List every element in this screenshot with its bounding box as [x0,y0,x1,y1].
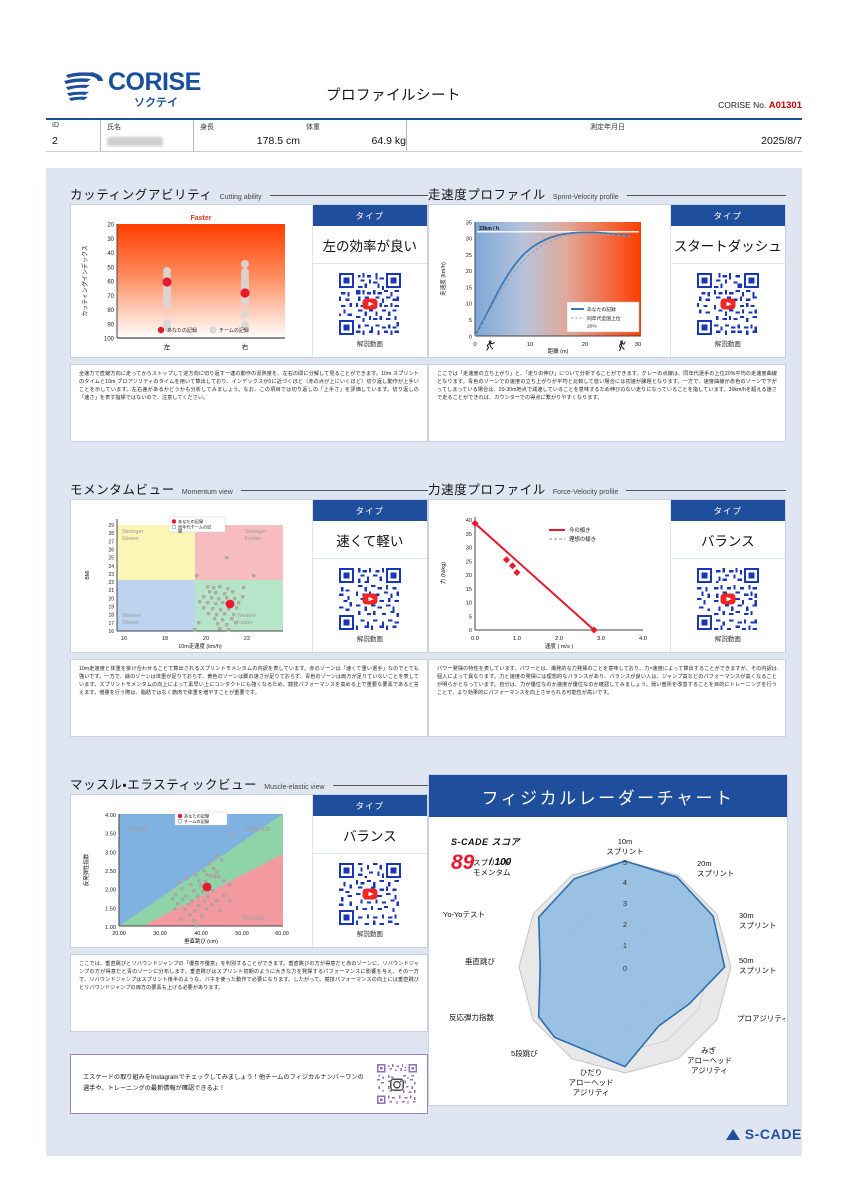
svg-text:2.50: 2.50 [105,869,116,875]
svg-text:反応弾力指数: 反応弾力指数 [449,1012,494,1022]
chart-area: 4.003.503.00 2.502.001.50 1.00 20.0030.0… [71,795,312,947]
type-panel: タイプ スタートダッシュ [670,205,785,357]
section-rule [241,490,428,491]
svg-text:2.0: 2.0 [555,636,563,642]
info-value-row: 2 178.5 cm 64.9 kg 2025/8/7 [46,132,802,151]
type-value: バランス [313,816,427,854]
corise-number-value: A01301 [769,100,802,111]
section-cutting-ability: カッティングアビリティ Cutting ability Faster [70,184,428,442]
svg-text:Faster: Faster [237,620,253,626]
radar-title: フィジカルレーダーチャート [429,775,787,817]
section-rule [333,785,428,786]
svg-text:Muscle: Muscle [243,915,265,922]
svg-text:チームの記録: チームの記録 [219,327,249,334]
footer-brand: S-CADE [745,1126,802,1142]
type-value: スタートダッシュ [671,226,785,264]
section-header: 力速度プロファイル Force-Velocity profile [428,479,786,499]
svg-text:0.0: 0.0 [471,636,479,642]
svg-text:5: 5 [623,858,627,867]
svg-text:2: 2 [623,920,627,929]
qr-block[interactable]: 解説動画 [313,264,427,357]
section-title: 力速度プロファイル [428,479,546,498]
svg-text:29: 29 [108,523,114,529]
value-name [101,132,194,151]
svg-text:1: 1 [623,941,627,950]
page-title: プロファイルシート [326,84,461,105]
chart-card: 4.003.503.00 2.502.001.50 1.00 20.0030.0… [70,794,428,948]
col-header-name: 氏名 [101,120,194,132]
section-header: モメンタムビュー Momentum view [70,479,428,499]
svg-text:16: 16 [121,636,127,642]
svg-text:あなたの記録: あなたの記録 [167,327,197,334]
svg-text:25: 25 [466,559,472,565]
svg-text:40: 40 [466,518,472,524]
chart-area: 353025 201510 50 33km / h 0102030 [429,205,670,357]
instagram-banner[interactable]: エスケードの取り組みをInstagramでチェックしてみましょう！他チームのフィ… [70,1054,428,1114]
svg-text:10: 10 [466,601,472,607]
section-description: パワー発揮の特性を表しています。パワーとは、爆発的な力発揮のことを意味しており、… [428,659,786,737]
svg-text:走速度 (km/h): 走速度 (km/h) [439,262,447,296]
svg-text:21: 21 [108,588,114,594]
section-sprint-velocity: 走速度プロファイル Sprint-Velocity profile [428,184,786,442]
chart-legend: あなたの記録 チームの記録 [175,812,227,825]
svg-text:20%: 20% [587,324,597,330]
svg-text:10: 10 [466,302,472,308]
value-id: 2 [46,132,101,151]
svg-text:26: 26 [108,548,114,554]
section-muscle-elastic: マッスル・エラスティックビュー Muscle-elastic view [70,774,428,1032]
chart-legend: あなたの記録 同年代全国上位 20% [567,302,639,332]
report-canvas: カッティングアビリティ Cutting ability Faster [46,168,802,1156]
section-description: ここでは、垂直跳びとリバウンドジャンプの「優意不優意」を判別することができます。… [70,954,428,1032]
scade-triangle-icon [726,1129,740,1140]
svg-text:あなたの記録: あなたの記録 [587,306,616,313]
section-title: マッスル・エラスティックビュー [70,774,257,793]
type-bar-label: タイプ [313,205,427,226]
svg-text:20: 20 [107,223,114,229]
sheet-header: CORISE ソクテイ プロファイルシート CORISE No. A01301 … [46,70,802,152]
svg-text:20.00: 20.00 [112,931,126,937]
chart-legend: あなたの記録 同年代チームの記 録 [169,517,225,535]
runner-icon-end [620,341,625,351]
qr-block[interactable]: 解説動画 [313,854,427,947]
svg-text:スプリント: スプリント [473,858,511,867]
header-thin-rule [46,151,802,152]
svg-text:3: 3 [623,899,627,908]
col-header-weight: 体重 [300,120,407,132]
svg-text:80: 80 [107,308,114,314]
redacted-name [107,137,163,146]
svg-text:力 (N/kg): 力 (N/kg) [439,562,447,585]
section-description: 10m走速度と体重を掛け合わせることで算出されるスプリントモメンタムの内訳を表し… [70,659,428,737]
qr-caption: 解説動画 [357,338,383,348]
svg-text:Balance: Balance [245,826,270,833]
muscle-elastic-chart: 4.003.503.00 2.502.001.50 1.00 20.0030.0… [73,800,309,945]
svg-text:Stronger: Stronger [122,529,144,535]
svg-text:アローヘッド: アローヘッド [569,1078,614,1087]
svg-text:27: 27 [108,539,114,545]
svg-text:30: 30 [107,237,114,243]
svg-text:アローヘッド: アローヘッド [687,1056,732,1065]
section-description: 全速力で直線方向に走ってからストップして逆方向に切り返す一連の動作の習熟度を、左… [70,364,428,442]
svg-text:60.00: 60.00 [275,931,289,937]
svg-text:100: 100 [104,337,115,343]
athlete-info-table: ID 氏名 身長 体重 測定年月日 2 178.5 cm 64.9 kg 202… [46,120,802,151]
svg-text:20: 20 [466,573,472,579]
svg-text:チームの記録: チームの記録 [184,818,210,825]
svg-text:3.0: 3.0 [597,636,605,642]
svg-text:距離 (m): 距離 (m) [548,347,569,355]
section-header: 走速度プロファイル Sprint-Velocity profile [428,184,786,204]
svg-text:5: 5 [469,614,472,620]
svg-text:4.00: 4.00 [105,813,116,819]
type-bar-label: タイプ [671,205,785,226]
svg-text:20m: 20m [697,859,712,868]
svg-text:18: 18 [162,636,168,642]
sprint-velocity-chart: 353025 201510 50 33km / h 0102030 [431,210,667,355]
svg-text:0: 0 [469,334,472,340]
col-header-date: 測定年月日 [407,120,803,132]
svg-text:24: 24 [108,564,114,570]
svg-text:50m: 50m [739,956,754,965]
svg-text:垂直跳び (cm): 垂直跳び (cm) [184,937,218,945]
svg-text:30m: 30m [739,911,754,920]
svg-text:25: 25 [108,556,114,562]
section-description: ここでは「走速度の立ち上がり」と、「走りの伸び」について分析することができます。… [428,364,786,442]
chart-card: Faster 203040 506070 8090100 [70,204,428,358]
svg-text:アジリティ: アジリティ [691,1066,728,1075]
type-value: 速くて軽い [313,521,427,559]
svg-text:同年代チームの記: 同年代チームの記 [178,523,212,530]
svg-text:プロアジリティ: プロアジリティ [737,1014,785,1023]
svg-text:Faster: Faster [190,215,211,222]
chart-area: 403530 252015 1050 [429,500,670,652]
col-header-height: 身長 [194,120,301,132]
section-header: マッスル・エラスティックビュー Muscle-elastic view [70,774,428,794]
chart-card: 292827 262524 232221 201918 1716 1618202… [70,499,428,653]
svg-text:20: 20 [108,596,114,602]
svg-text:4.0: 4.0 [639,636,647,642]
svg-text:22: 22 [108,580,114,586]
type-value: 左の効率が良い [313,226,427,264]
svg-text:スプリント: スプリント [606,847,644,856]
svg-text:19: 19 [108,605,114,611]
qr-code-icon[interactable] [339,273,401,335]
svg-text:20: 20 [582,342,588,348]
svg-text:理想の傾き: 理想の傾き [569,535,596,543]
instagram-text: エスケードの取り組みをInstagramでチェックしてみましょう！他チームのフィ… [71,1073,377,1095]
svg-text:10m: 10m [618,837,633,846]
section-title-en: Sprint-Velocity profile [553,194,619,201]
qr-code-icon[interactable] [697,273,759,335]
type-panel: タイプ バランス [670,500,785,652]
svg-text:10m走速度 (km/h): 10m走速度 (km/h) [178,642,222,650]
svg-text:20: 20 [466,269,472,275]
svg-text:30: 30 [635,342,641,348]
chart-area: Faster 203040 506070 8090100 [71,205,312,357]
svg-text:スプリント: スプリント [739,966,777,975]
svg-text:40.00: 40.00 [194,931,208,937]
chart-area: 292827 262524 232221 201918 1716 1618202… [71,500,312,652]
svg-text:30: 30 [466,237,472,243]
svg-text:Slower: Slower [122,620,139,626]
svg-text:35: 35 [466,532,472,538]
svg-text:28: 28 [108,531,114,537]
svg-text:スプリント: スプリント [697,869,735,878]
type-bar-label: タイプ [313,500,427,521]
svg-text:アジリティ: アジリティ [573,1088,610,1097]
svg-text:15: 15 [466,285,472,291]
qr-caption: 解説動画 [715,338,741,348]
svg-text:モメンタム: モメンタム [473,868,511,877]
svg-text:33km / h: 33km / h [479,226,499,232]
svg-text:Stronger: Stronger [245,529,267,535]
svg-text:4: 4 [623,878,627,887]
svg-text:Yo-Yoテスト: Yo-Yoテスト [443,910,485,919]
svg-text:垂直跳び: 垂直跳び [465,956,495,966]
svg-text:30: 30 [466,546,472,552]
type-panel: タイプ 左の効率が良い [312,205,427,357]
svg-text:17: 17 [108,621,114,627]
section-rule [627,195,786,196]
type-bar-label: タイプ [313,795,427,816]
section-header: カッティングアビリティ Cutting ability [70,184,428,204]
qr-block[interactable]: 解説動画 [671,264,785,357]
svg-text:15: 15 [466,587,472,593]
svg-text:スプリント: スプリント [739,921,777,930]
svg-text:Weaker: Weaker [122,613,141,619]
svg-text:30.00: 30.00 [153,931,167,937]
type-bar-label: タイプ [671,500,785,521]
cutting-ability-chart: Faster 203040 506070 8090100 [73,210,309,355]
svg-text:0: 0 [469,628,472,634]
qr-block[interactable]: 解説動画 [313,559,427,652]
svg-text:右: 右 [242,342,249,351]
instagram-qr-icon[interactable] [377,1064,417,1104]
profile-sheet-page: CORISE ソクテイ プロファイルシート CORISE No. A01301 … [0,0,848,1200]
svg-text:25: 25 [466,253,472,259]
qr-code-icon[interactable] [339,568,401,630]
section-title: モメンタムビュー [70,479,175,498]
svg-text:5: 5 [469,318,472,324]
svg-text:Weaker: Weaker [237,613,256,619]
chart-card: 353025 201510 50 33km / h 0102030 [428,204,786,358]
instagram-glyph [391,1079,403,1090]
force-velocity-chart: 403530 252015 1050 [431,505,667,650]
logo-subtitle: ソクテイ [134,98,201,109]
svg-text:カッティングインデックス: カッティングインデックス [81,245,89,316]
qr-code-icon[interactable] [697,568,759,630]
corise-logo: CORISE ソクテイ [64,70,201,109]
section-rule [626,490,786,491]
section-title-en: Cutting ability [220,194,262,201]
chart-card: 403530 252015 1050 [428,499,786,653]
section-title: 走速度プロファイル [428,184,546,203]
value-height: 178.5 cm [194,132,301,151]
svg-text:40: 40 [107,251,114,257]
qr-caption: 解説動画 [357,633,383,643]
svg-text:5段跳び: 5段跳び [511,1048,538,1058]
chart-legend: 今の傾き 理想の傾き [549,526,596,543]
svg-text:今の傾き: 今の傾き [569,526,591,534]
svg-text:3.00: 3.00 [105,850,116,856]
col-header-id: ID [46,120,101,132]
svg-text:ひだり: ひだり [580,1068,603,1077]
svg-text:同年代全国上位: 同年代全国上位 [587,315,621,322]
svg-text:反発弾性指数: 反発弾性指数 [82,853,90,886]
svg-text:90: 90 [107,322,114,328]
svg-text:Elastic: Elastic [128,826,149,833]
header-top-row: CORISE ソクテイ プロファイルシート CORISE No. A01301 [46,70,802,118]
corise-number: CORISE No. A01301 [718,100,802,111]
svg-text:50.00: 50.00 [235,931,249,937]
type-panel: タイプ 速くて軽い [312,500,427,652]
info-header-row: ID 氏名 身長 体重 測定年月日 [46,120,802,132]
svg-text:70: 70 [107,294,114,300]
qr-code-icon[interactable] [339,863,401,925]
svg-text:速度 ( m/s ): 速度 ( m/s ) [545,642,574,650]
section-title-en: Muscle-elastic view [264,784,324,791]
logo-wordmark: CORISE [108,70,201,95]
corise-number-label: CORISE No. [718,100,766,110]
svg-text:50: 50 [107,265,114,271]
svg-text:35: 35 [466,220,472,226]
svg-text:みぎ: みぎ [701,1045,716,1055]
physical-radar-card: フィジカルレーダーチャート S-CADE スコア 89 / 100 [428,774,788,1106]
qr-caption: 解説動画 [357,928,383,938]
runner-icon-start [487,341,495,350]
svg-text:1.0: 1.0 [513,636,521,642]
svg-text:18: 18 [108,613,114,619]
svg-text:Slower: Slower [122,536,139,542]
svg-text:1.50: 1.50 [105,906,116,912]
footer-logo: S-CADE [726,1126,802,1142]
section-title-en: Force-Velocity profile [553,489,618,496]
radar-chart: 012 345 10m スプリント 20m スプリント 30m スプリント 50… [429,817,785,1105]
svg-text:2.00: 2.00 [105,888,116,894]
svg-text:Faster: Faster [245,536,261,542]
svg-text:16: 16 [108,629,114,635]
qr-caption: 解説動画 [715,633,741,643]
svg-text:0: 0 [623,964,627,973]
svg-text:0: 0 [473,342,476,348]
svg-text:BMI: BMI [85,570,91,579]
radar-body: S-CADE スコア 89 / 100 [429,817,787,1105]
value-weight: 64.9 kg [300,132,407,151]
svg-text:23: 23 [108,572,114,578]
type-panel: タイプ バランス [312,795,427,947]
svg-text:60: 60 [107,280,114,286]
type-value: バランス [671,521,785,559]
value-date: 2025/8/7 [407,132,803,151]
svg-text:20: 20 [203,636,209,642]
svg-text:左: 左 [164,342,171,351]
section-momentum-view: モメンタムビュー Momentum view 292827 262524 232… [70,479,428,737]
momentum-view-chart: 292827 262524 232221 201918 1716 1618202… [73,505,309,650]
svg-text:22: 22 [244,636,250,642]
section-title: カッティングアビリティ [70,184,213,203]
svg-text:3.50: 3.50 [105,832,116,838]
corise-logo-icon [64,70,104,104]
section-force-velocity: 力速度プロファイル Force-Velocity profile 403530 … [428,479,786,737]
section-title-en: Momentum view [182,489,233,496]
section-rule [270,195,428,196]
qr-block[interactable]: 解説動画 [671,559,785,652]
svg-text:10: 10 [527,342,533,348]
